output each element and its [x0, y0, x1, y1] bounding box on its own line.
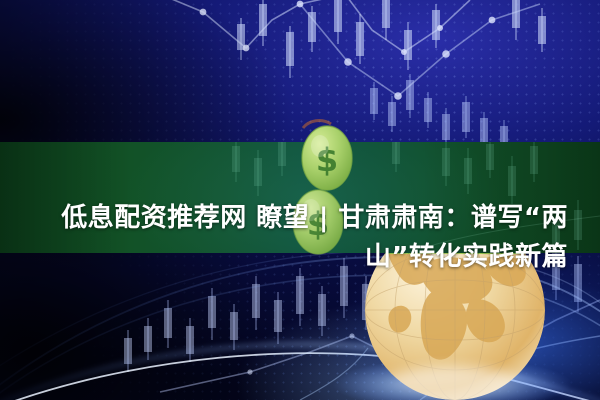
headline-text: 低息配资推荐网 瞭望 | 甘肃肃南：谱写“两山”转化实践新篇: [61, 203, 568, 272]
article-banner-image: $ $ 低息配资推荐网 瞭望 | 甘肃肃南：谱写“两山”转化实践新篇: [0, 0, 600, 400]
page-title: 低息配资推荐网 瞭望 | 甘肃肃南：谱写“两山”转化实践新篇: [0, 160, 600, 316]
